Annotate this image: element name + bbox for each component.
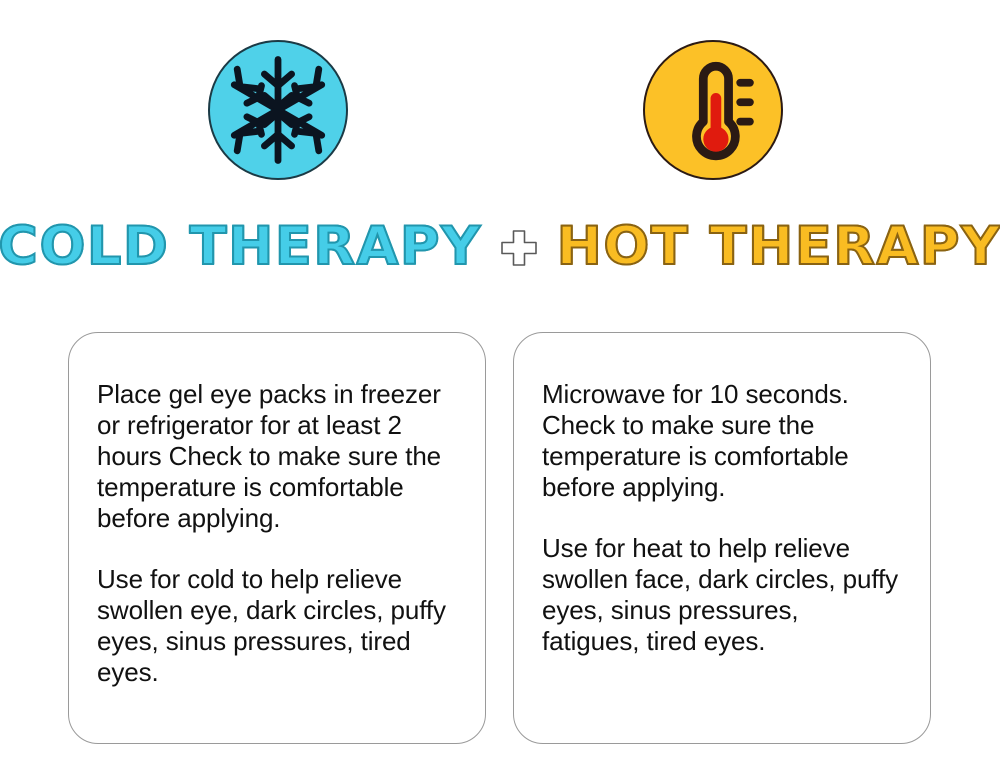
cold-therapy-badge (208, 40, 348, 180)
thermometer-icon (645, 42, 781, 178)
snowflake-icon (210, 42, 346, 178)
cold-benefits-paragraph: Use for cold to help relieve swollen eye… (97, 564, 455, 688)
plus-icon (499, 228, 539, 268)
hot-therapy-title: HOT THERAPY (556, 220, 1000, 273)
cold-therapy-title: COLD THERAPY (0, 220, 482, 273)
hot-instructions-paragraph: Microwave for 10 seconds. Check to make … (542, 379, 900, 503)
hot-therapy-card: Microwave for 10 seconds. Check to make … (513, 332, 931, 744)
cold-instructions-paragraph: Place gel eye packs in freezer or refrig… (97, 379, 455, 534)
hot-benefits-paragraph: Use for heat to help relieve swollen fac… (542, 533, 900, 657)
cold-therapy-card: Place gel eye packs in freezer or refrig… (68, 332, 486, 744)
poster-root: COLD THERAPY HOT THERAPY Place gel eye p… (0, 0, 1000, 777)
titles-row: COLD THERAPY HOT THERAPY (0, 206, 1000, 286)
hot-therapy-badge (643, 40, 783, 180)
